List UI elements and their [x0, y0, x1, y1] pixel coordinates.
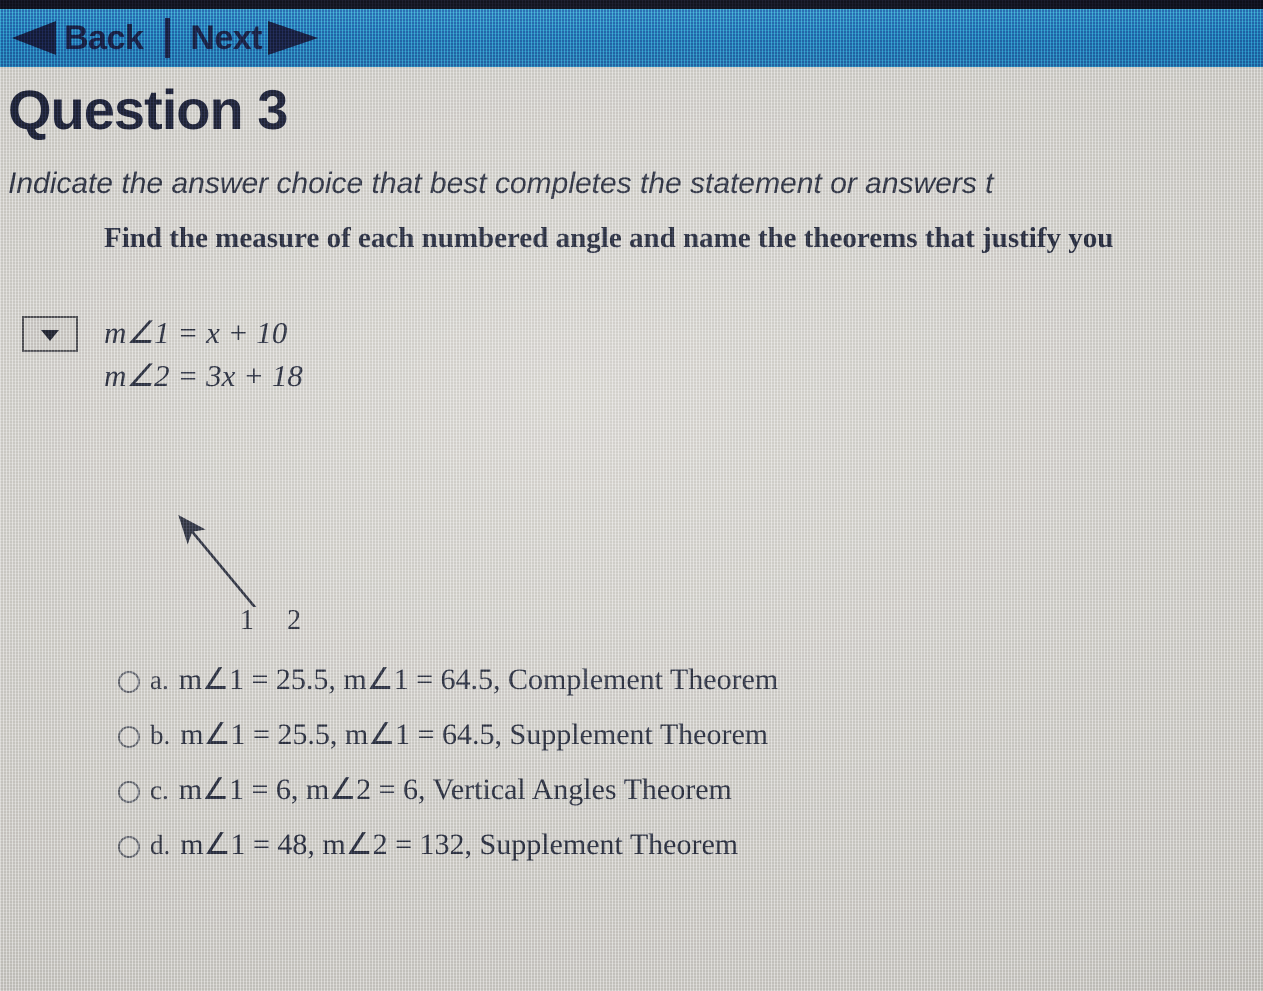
problem-statement: Find the measure of each numbered angle … — [104, 222, 1113, 255]
choice-c-text: m∠1 = 6, m∠2 = 6, Vertical Angles Theore… — [179, 772, 732, 807]
choice-a-letter: a. — [150, 665, 169, 696]
given-equation-2-text: m∠2 = 3x + 18 — [104, 358, 303, 393]
choice-b-text: m∠1 = 25.5, m∠1 = 64.5, Supplement Theor… — [180, 717, 768, 752]
instruction-text: Indicate the answer choice that best com… — [8, 167, 994, 201]
choice-d[interactable]: d. m∠1 = 48, m∠2 = 132, Supplement Theor… — [118, 827, 1118, 882]
screen-bezel-strip — [0, 0, 1263, 9]
question-content: Question 3 Indicate the answer choice th… — [0, 67, 1263, 991]
navigation-bar: Back Next — [0, 9, 1263, 67]
back-button-label: Back — [64, 21, 143, 55]
choice-b-letter: b. — [150, 720, 170, 751]
triangle-right-icon — [268, 21, 318, 55]
angle-ray — [180, 517, 283, 607]
radio-button-d[interactable] — [118, 836, 140, 858]
back-button[interactable]: Back — [0, 21, 143, 55]
choice-c[interactable]: c. m∠1 = 6, m∠2 = 6, Vertical Angles The… — [118, 772, 1118, 827]
choice-c-letter: c. — [150, 775, 169, 806]
choice-d-text: m∠1 = 48, m∠2 = 132, Supplement Theorem — [180, 827, 738, 862]
screen-photo: Back Next Question 3 Indicate the answer… — [0, 0, 1263, 991]
triangle-left-icon — [12, 21, 56, 55]
given-equation-2: m∠2 = 3x + 18 — [104, 355, 303, 398]
choice-a-text: m∠1 = 25.5, m∠1 = 64.5, Complement Theor… — [179, 662, 779, 697]
angle-diagram: 1 2 — [100, 427, 520, 607]
radio-button-b[interactable] — [118, 726, 140, 748]
page-title: Question 3 — [8, 82, 287, 138]
given-equation-1-text: m∠1 = x + 10 — [104, 315, 287, 350]
angle-label-2: 2 — [287, 605, 301, 637]
answer-choices: a. m∠1 = 25.5, m∠1 = 64.5, Complement Th… — [118, 662, 1118, 882]
choice-a[interactable]: a. m∠1 = 25.5, m∠1 = 64.5, Complement Th… — [118, 662, 1118, 717]
angle-label-1: 1 — [240, 605, 254, 637]
angle-diagram-svg — [100, 427, 520, 607]
radio-button-c[interactable] — [118, 781, 140, 803]
given-equations: m∠1 = x + 10 m∠2 = 3x + 18 — [104, 312, 303, 398]
radio-button-a[interactable] — [118, 671, 140, 693]
choice-d-letter: d. — [150, 830, 170, 861]
choice-b[interactable]: b. m∠1 = 25.5, m∠1 = 64.5, Supplement Th… — [118, 717, 1118, 772]
next-button[interactable]: Next — [190, 21, 318, 55]
next-button-label: Next — [190, 21, 262, 55]
nav-divider — [165, 18, 170, 58]
answer-select[interactable] — [22, 316, 78, 352]
given-equation-1: m∠1 = x + 10 — [104, 312, 303, 355]
chevron-down-icon — [41, 330, 59, 341]
